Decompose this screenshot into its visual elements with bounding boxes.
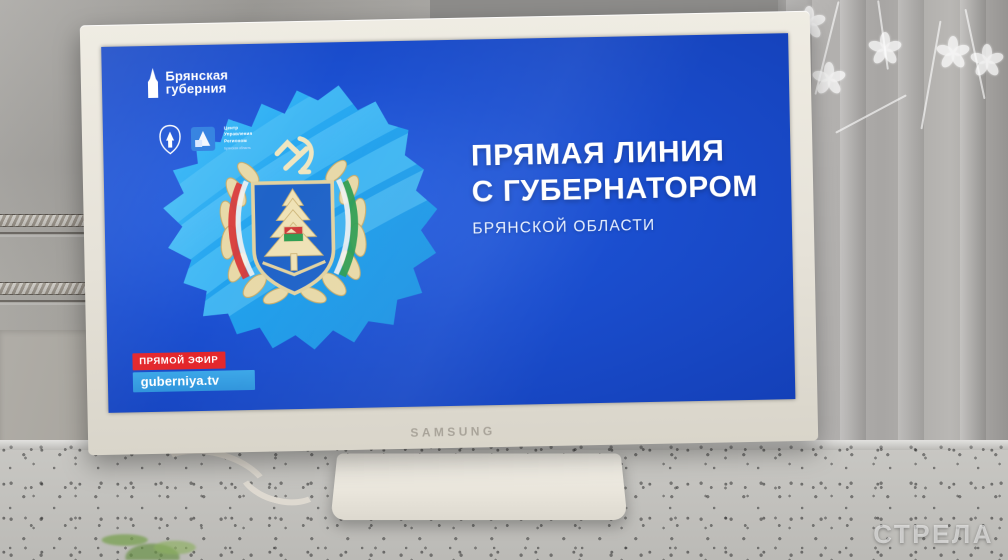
photo-watermark: СТРЕЛА <box>873 519 994 550</box>
bryansk-map-icon <box>129 76 458 375</box>
spire-icon <box>144 68 161 98</box>
novgorod-coat-of-arms-icon <box>158 124 183 154</box>
broadcast-headline: ПРЯМАЯ ЛИНИЯ С ГУБЕРНАТОРОМ БРЯНСКОЙ ОБЛ… <box>471 133 759 239</box>
channel-logo: Брянская губерния <box>144 66 228 98</box>
channel-logo-text: Брянская губерния <box>165 68 228 96</box>
headline-line1: ПРЯМАЯ ЛИНИЯ <box>471 133 758 175</box>
headline-line2: С ГУБЕРНАТОРОМ <box>471 169 758 211</box>
embroidery-flower <box>974 44 1000 70</box>
partner-logo-subline: Брянская область <box>224 146 252 151</box>
partner-logo-text: Центр Управления Регионом Брянская облас… <box>224 124 253 151</box>
tv-screen: Брянская губерния Центр Упра <box>101 33 795 413</box>
live-banner: ПРЯМОЙ ЭФИР guberniya.tv <box>132 349 255 392</box>
channel-logo-line2: губерния <box>166 81 229 96</box>
embroidery-flower <box>816 62 842 88</box>
partner-logo: Центр Управления Регионом Брянская облас… <box>158 123 253 155</box>
embroidery-flower <box>940 36 966 62</box>
live-site-url: guberniya.tv <box>132 370 254 392</box>
bryansk-map-graphic <box>129 76 458 375</box>
partner-logo-line3: Регионом <box>224 138 252 145</box>
embroidery-flower <box>872 32 898 58</box>
tv-stand-base <box>331 454 628 521</box>
television: Брянская губерния Центр Упра <box>80 11 818 456</box>
cur-cube-icon <box>190 125 217 152</box>
room-scene: Брянская губерния Центр Упра <box>0 0 1008 560</box>
live-badge: ПРЯМОЙ ЭФИР <box>132 351 225 370</box>
